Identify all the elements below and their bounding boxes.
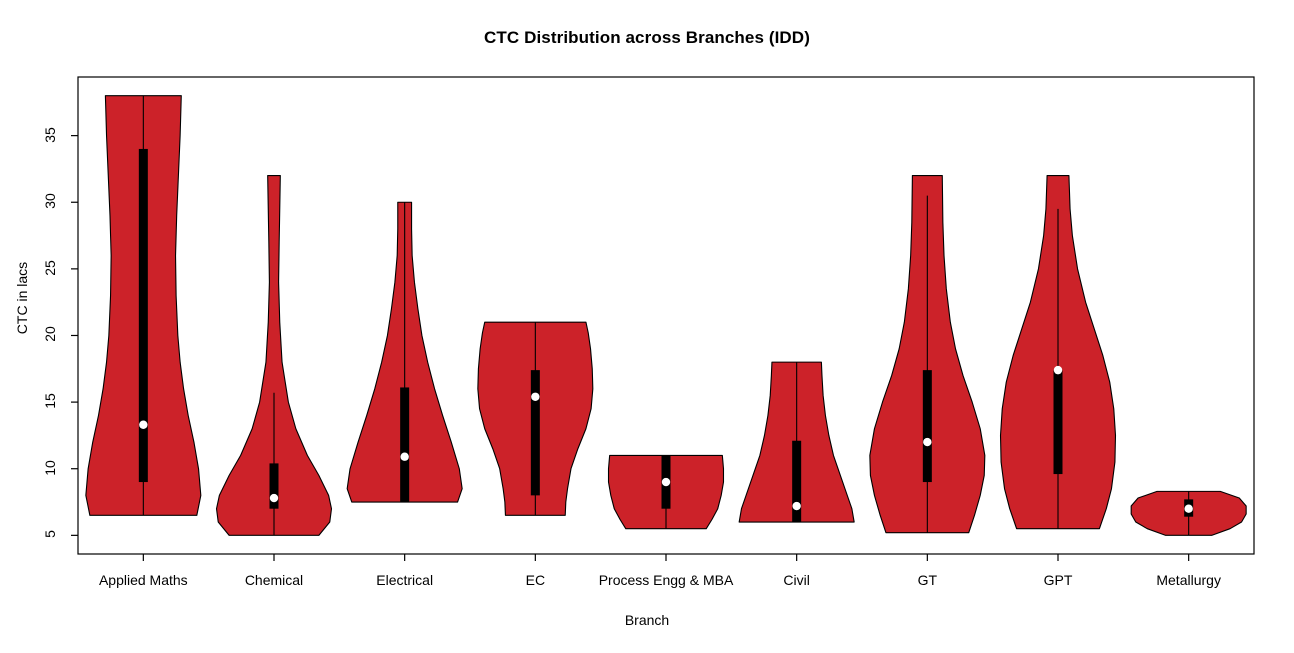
x-tick-label: Electrical bbox=[376, 572, 433, 588]
violin-median-point bbox=[400, 453, 408, 461]
y-tick-label: 30 bbox=[42, 184, 58, 218]
violin-2 bbox=[217, 176, 332, 536]
violin-median-point bbox=[139, 421, 147, 429]
x-tick-label: GPT bbox=[1044, 572, 1073, 588]
y-tick-label: 5 bbox=[42, 517, 58, 551]
x-tick-label: Metallurgy bbox=[1156, 572, 1221, 588]
y-tick-label: 25 bbox=[42, 251, 58, 285]
x-tick-label: EC bbox=[526, 572, 545, 588]
violin-median-point bbox=[1184, 504, 1192, 512]
violin-iqr-box bbox=[139, 149, 148, 482]
x-tick-label: GT bbox=[918, 572, 937, 588]
violin-median-point bbox=[1054, 366, 1062, 374]
violin-median-point bbox=[662, 478, 670, 486]
violin-3 bbox=[347, 202, 462, 502]
violin-iqr-box bbox=[923, 370, 932, 482]
violin-iqr-box bbox=[400, 387, 409, 502]
violin-median-point bbox=[923, 438, 931, 446]
x-tick-label: Process Engg & MBA bbox=[599, 572, 734, 588]
violin-median-point bbox=[792, 502, 800, 510]
y-tick-label: 15 bbox=[42, 384, 58, 418]
plot-area bbox=[0, 0, 1294, 653]
violin-5 bbox=[609, 455, 724, 528]
x-tick-label: Chemical bbox=[245, 572, 303, 588]
violin-median-point bbox=[270, 494, 278, 502]
violin-chart: CTC Distribution across Branches (IDD) C… bbox=[0, 0, 1294, 653]
violin-4 bbox=[478, 322, 593, 515]
violin-8 bbox=[1001, 176, 1116, 529]
violin-iqr-box bbox=[1054, 370, 1063, 474]
violin-iqr-box bbox=[531, 370, 540, 495]
violin-7 bbox=[870, 176, 985, 533]
y-tick-label: 20 bbox=[42, 317, 58, 351]
y-tick-label: 10 bbox=[42, 451, 58, 485]
violin-6 bbox=[739, 362, 854, 522]
violin-9 bbox=[1131, 491, 1246, 535]
violin-median-point bbox=[531, 393, 539, 401]
violin-1 bbox=[86, 96, 201, 516]
y-tick-label: 35 bbox=[42, 118, 58, 152]
x-tick-label: Civil bbox=[783, 572, 809, 588]
x-tick-label: Applied Maths bbox=[99, 572, 188, 588]
